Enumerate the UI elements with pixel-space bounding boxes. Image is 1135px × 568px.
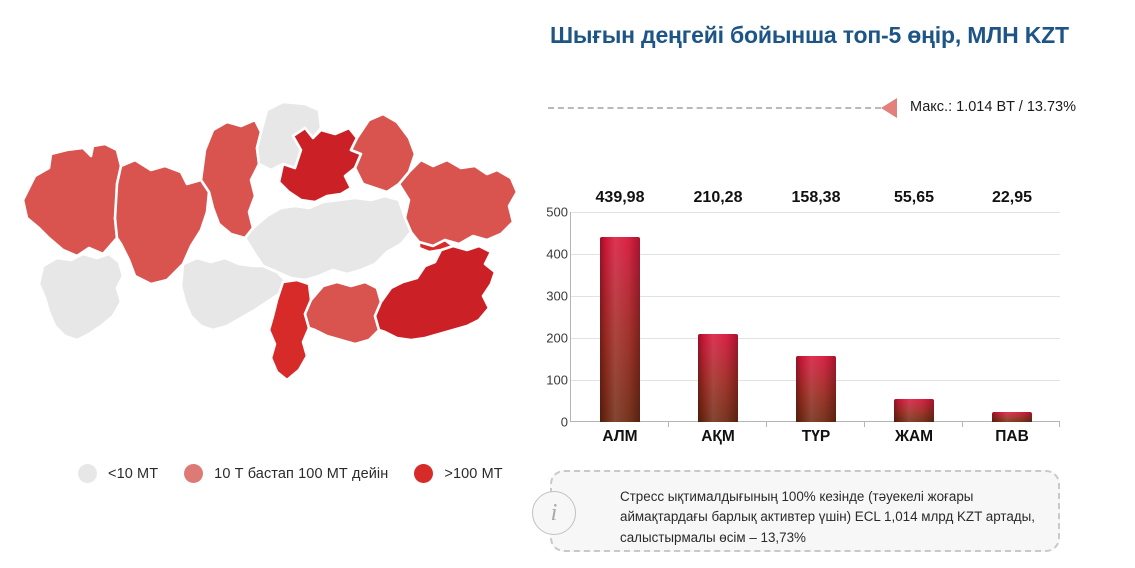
legend-item-medium[interactable]: 10 Т бастап 100 МТ дейін bbox=[184, 464, 388, 483]
max-threshold-annotation: Макс.: 1.014 BT / 13.73% bbox=[548, 97, 1128, 119]
legend-label-medium: 10 Т бастап 100 МТ дейін bbox=[214, 466, 388, 482]
bar-tur[interactable] bbox=[796, 356, 836, 423]
bar-value-label: 210,28 bbox=[694, 189, 743, 207]
map-region-east[interactable] bbox=[399, 160, 517, 246]
left-triangle-marker-icon bbox=[881, 98, 897, 118]
y-tick-300: 300 bbox=[546, 289, 568, 304]
x-tick-mark bbox=[668, 422, 669, 427]
x-tick-mark bbox=[962, 422, 963, 427]
max-threshold-label: Макс.: 1.014 BT / 13.73% bbox=[910, 99, 1076, 115]
legend-item-high[interactable]: >100 МТ bbox=[414, 464, 502, 483]
bar-value-label: 55,65 bbox=[894, 189, 934, 207]
plot-area: 439,98 АЛМ 210,28 АҚМ 158,38 ТҮР 55,65 Ж… bbox=[570, 212, 1060, 422]
bar-chart[interactable]: 500 400 300 200 100 0 439,98 АЛМ bbox=[540, 200, 1135, 445]
x-tick-mark bbox=[766, 422, 767, 427]
legend-item-low[interactable]: <10 МТ bbox=[78, 464, 158, 483]
legend-swatch-high bbox=[414, 464, 433, 483]
bar-value-label: 158,38 bbox=[792, 189, 841, 207]
x-axis-label-pav: ПАВ bbox=[995, 428, 1029, 446]
x-tick-mark bbox=[864, 422, 865, 427]
map-region-zhambyl[interactable] bbox=[305, 282, 381, 344]
y-axis-line bbox=[570, 212, 571, 422]
x-axis-label-zham: ЖАМ bbox=[895, 428, 933, 446]
bar-column-tur[interactable]: 158,38 ТҮР bbox=[796, 212, 836, 422]
bar-value-label: 22,95 bbox=[992, 189, 1032, 207]
map-region-central-pale[interactable] bbox=[245, 196, 411, 280]
x-axis-label-tur: ТҮР bbox=[802, 428, 830, 446]
map-region-north-1[interactable] bbox=[201, 120, 261, 238]
y-tick-200: 200 bbox=[546, 331, 568, 346]
max-threshold-line bbox=[548, 107, 881, 109]
bar-akm[interactable] bbox=[698, 334, 738, 422]
legend-label-low: <10 МТ bbox=[108, 466, 158, 482]
info-circle-icon: i bbox=[532, 491, 576, 535]
page-title: Шығын деңгейі бойынша топ-5 өңір, МЛН KZ… bbox=[550, 22, 1069, 49]
y-tick-0: 0 bbox=[561, 415, 568, 430]
x-tick-mark bbox=[1059, 422, 1060, 427]
bar-column-zham[interactable]: 55,65 ЖАМ bbox=[894, 212, 934, 422]
x-axis-label-alm: АЛМ bbox=[602, 428, 637, 446]
bar-zham[interactable] bbox=[894, 399, 934, 422]
map-legend: <10 МТ 10 Т бастап 100 МТ дейін >100 МТ bbox=[78, 464, 529, 483]
y-tick-400: 400 bbox=[546, 247, 568, 262]
bar-column-pav[interactable]: 22,95 ПАВ bbox=[992, 212, 1032, 422]
legend-label-high: >100 МТ bbox=[444, 466, 502, 482]
map-region-almaty[interactable] bbox=[375, 246, 495, 340]
y-tick-100: 100 bbox=[546, 373, 568, 388]
y-tick-500: 500 bbox=[546, 205, 568, 220]
bar-column-akm[interactable]: 210,28 АҚМ bbox=[698, 212, 738, 422]
info-note-box: i Стресс ықтималдығының 100% кезінде (тә… bbox=[550, 470, 1060, 552]
chart-panel: Шығын деңгейі бойынша топ-5 өңір, МЛН KZ… bbox=[540, 0, 1135, 568]
bar-pav[interactable] bbox=[992, 412, 1032, 422]
y-axis: 500 400 300 200 100 0 bbox=[540, 200, 568, 412]
legend-swatch-low bbox=[78, 464, 97, 483]
info-note-text: Стресс ықтималдығының 100% кезінде (тәуе… bbox=[620, 487, 1045, 548]
map-panel: <10 МТ 10 Т бастап 100 МТ дейін >100 МТ bbox=[0, 0, 540, 568]
map-region-mangystau[interactable] bbox=[39, 254, 123, 340]
legend-swatch-medium bbox=[184, 464, 203, 483]
bar-alm[interactable] bbox=[600, 237, 640, 422]
bar-column-alm[interactable]: 439,98 АЛМ bbox=[600, 212, 640, 422]
x-axis-label-akm: АҚМ bbox=[701, 428, 735, 446]
kazakhstan-map[interactable] bbox=[5, 88, 535, 418]
map-region-west-1[interactable] bbox=[23, 144, 123, 256]
bar-value-label: 439,98 bbox=[596, 189, 645, 207]
